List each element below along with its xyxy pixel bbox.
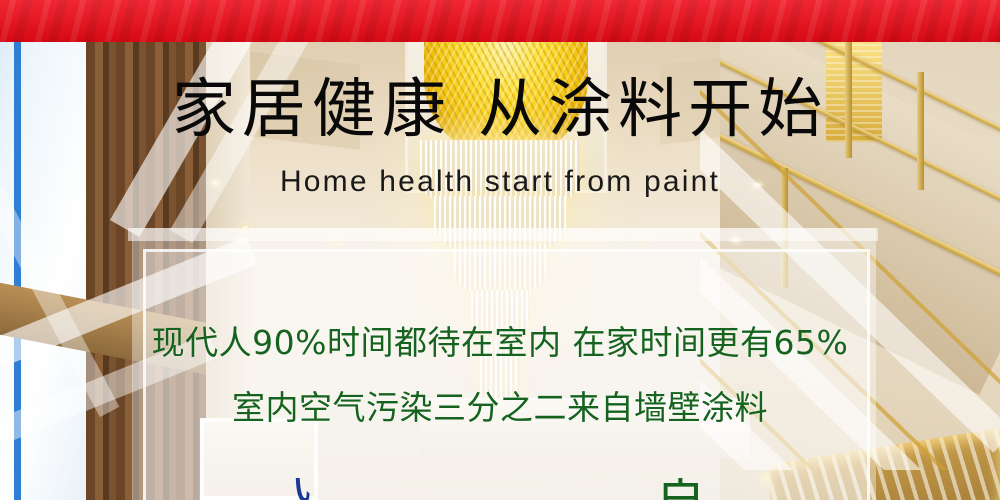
bottom-fragment-left: 气 [259, 478, 345, 500]
headline-english: Home health start from paint [0, 164, 1000, 200]
content-frame-border [143, 249, 870, 500]
headline-chinese: 家居健康 从涂料开始 [0, 78, 1000, 142]
body-line-2: 室内空气污染三分之二来自墙壁涂料 [0, 381, 1000, 429]
promo-banner: 家居健康 从涂料开始 Home health start from paint … [0, 0, 1000, 500]
red-band-sheen [0, 0, 1000, 42]
body-line-1: 现代人90%时间都待在室内 在家时间更有65% [0, 316, 1000, 364]
bottom-fragment-right: 苦 [655, 478, 741, 500]
bottom-cropped-characters: 气 苦 [0, 478, 1000, 500]
red-header-band [0, 0, 1000, 42]
bottom-cropped-text-row: 气 苦 [0, 478, 1000, 500]
content-frame-top-band [128, 228, 878, 241]
